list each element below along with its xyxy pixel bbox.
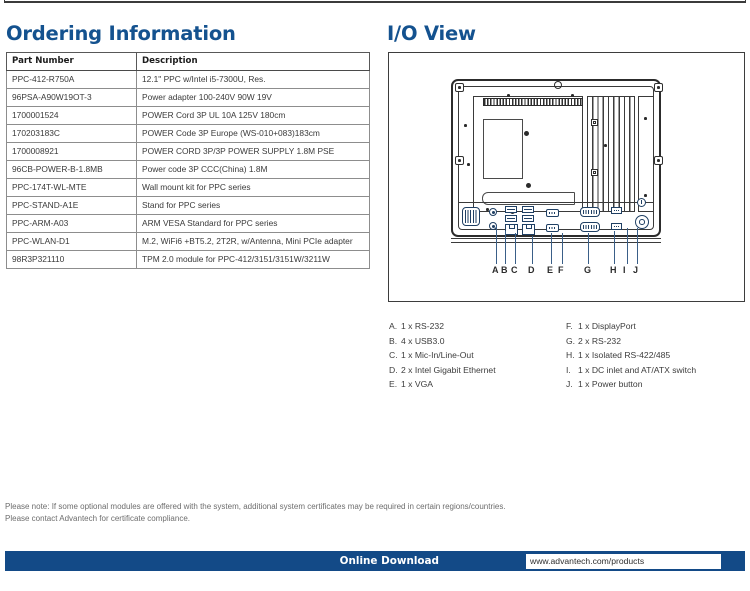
cell-description: TPM 2.0 module for PPC-412/3151/3151W/32… (137, 251, 370, 269)
io-legend-key: F. (566, 319, 578, 334)
power-button-connector (637, 198, 646, 207)
vesa-mount-boss-top-left (455, 83, 464, 92)
io-legend-text: 1 x Mic-In/Line-Out (401, 350, 474, 360)
io-legend-item: E.1 x VGA (389, 377, 496, 392)
callout-letter-e: E (547, 265, 553, 275)
leader-line-a (496, 226, 497, 264)
io-legend-key: G. (566, 334, 578, 349)
leader-line-b (505, 231, 506, 264)
cell-description: Power code 3P CCC(China) 1.8M (137, 161, 370, 179)
io-bracket-rail (451, 238, 661, 243)
cell-part-number: 96PSA-A90W19OT-3 (7, 89, 137, 107)
leader-line-h (614, 231, 615, 264)
usb3-port-1 (505, 206, 517, 213)
table-row: PPC-412-R750A12.1" PPC w/Intel i5-7300U,… (7, 71, 370, 89)
io-legend-key: H. (566, 348, 578, 363)
vesa-mount-boss-bottom-left (455, 156, 464, 165)
io-legend-key: E. (389, 377, 401, 392)
rs232-port-g2-connector (580, 222, 600, 232)
cell-part-number: PPC-ARM-A03 (7, 215, 137, 233)
cell-description: ARM VESA Standard for PPC series (137, 215, 370, 233)
side-panel-screw-top (644, 117, 647, 120)
heatsink-fins (587, 96, 635, 212)
callout-letter-g: G (584, 265, 591, 275)
ethernet-port-2 (522, 224, 535, 235)
io-legend-text: 2 x Intel Gigabit Ethernet (401, 365, 496, 375)
table-row: 1700001524POWER Cord 3P UL 10A 125V 180c… (7, 107, 370, 125)
screw-hole-c (464, 124, 467, 127)
online-download-footer-bar: Online Download (5, 551, 745, 571)
cell-part-number: 1700008921 (7, 143, 137, 161)
cell-description: POWER CORD 3P/3P POWER SUPPLY 1.8M PSE (137, 143, 370, 161)
table-row: PPC-WLAN-D1M.2, WiFi6 +BT5.2, 2T2R, w/An… (7, 233, 370, 251)
ventilation-grille (483, 98, 583, 106)
cell-part-number: 96CB-POWER-B-1.8MB (7, 161, 137, 179)
screw-hole-d (467, 163, 470, 166)
io-legend-item: C.1 x Mic-In/Line-Out (389, 348, 496, 363)
io-legend-item: I.1 x DC inlet and AT/ATX switch (566, 363, 696, 378)
cover-access-window (483, 119, 523, 179)
online-download-url-field[interactable] (526, 554, 721, 569)
heatsink-clip-bottom (591, 169, 598, 176)
cell-part-number: PPC-STAND-A1E (7, 197, 137, 215)
leader-line-f (562, 233, 563, 264)
table-row: 96CB-POWER-B-1.8MBPower code 3P CCC(Chin… (7, 161, 370, 179)
io-legend-right-column: F.1 x DisplayPortG.2 x RS-232H.1 x Isola… (566, 319, 696, 392)
cell-description: POWER Code 3P Europe (WS-010+083)183cm (137, 125, 370, 143)
io-legend-key: D. (389, 363, 401, 378)
heatsink-screw (604, 144, 607, 147)
table-row: 170203183CPOWER Code 3P Europe (WS-010+0… (7, 125, 370, 143)
table-header-row: Part Number Description (7, 53, 370, 71)
cell-part-number: 1700001524 (7, 107, 137, 125)
io-legend-item: A.1 x RS-232 (389, 319, 496, 334)
io-legend-key: A. (389, 319, 401, 334)
leader-line-g (588, 233, 589, 264)
io-legend-key: C. (389, 348, 401, 363)
displayport-connector (546, 224, 559, 232)
heatsink-clip-top (591, 119, 598, 126)
table-row: 96PSA-A90W19OT-3Power adapter 100-240V 9… (7, 89, 370, 107)
column-header-part-number: Part Number (7, 53, 137, 71)
cell-description: 12.1" PPC w/Intel i5-7300U, Res. (137, 71, 370, 89)
cell-description: M.2, WiFi6 +BT5.2, 2T2R, w/Antenna, Mini… (137, 233, 370, 251)
io-legend-text: 2 x RS-232 (578, 336, 621, 346)
io-legend-text: 1 x RS-232 (401, 321, 444, 331)
table-row: PPC-STAND-A1EStand for PPC series (7, 197, 370, 215)
io-legend-item: J.1 x Power button (566, 377, 696, 392)
callout-letter-c: C (511, 265, 518, 275)
vesa-mount-boss-top-right (654, 83, 663, 92)
io-legend-key: I. (566, 363, 578, 378)
column-header-description: Description (137, 53, 370, 71)
callout-letter-d: D (528, 265, 535, 275)
usb3-port-3 (505, 215, 517, 222)
cell-description: POWER Cord 3P UL 10A 125V 180cm (137, 107, 370, 125)
ordering-information-table: Part Number Description PPC-412-R750A12.… (6, 52, 370, 269)
cell-part-number: PPC-174T-WL-MTE (7, 179, 137, 197)
io-legend-left-column: A.1 x RS-232B.4 x USB3.0C.1 x Mic-In/Lin… (389, 319, 496, 392)
page-top-rule (4, 0, 746, 3)
cell-description: Wall mount kit for PPC series (137, 179, 370, 197)
isolated-rs422-485-port (611, 207, 622, 214)
rs232-port-a-connector (462, 207, 480, 226)
leader-line-c (515, 233, 516, 264)
callout-letter-a: A (492, 265, 499, 275)
dc-inlet-connector (635, 215, 649, 229)
leader-line-e (551, 233, 552, 264)
callout-letter-f: F (558, 265, 564, 275)
table-row: PPC-174T-WL-MTEWall mount kit for PPC se… (7, 179, 370, 197)
io-legend-key: B. (389, 334, 401, 349)
callout-letter-i: I (623, 265, 626, 275)
usb3-port-2 (522, 206, 534, 213)
io-legend-item: G.2 x RS-232 (566, 334, 696, 349)
rs232-port-g1-connector (580, 207, 600, 217)
cell-part-number: 98R3P321110 (7, 251, 137, 269)
io-legend-text: 1 x DisplayPort (578, 321, 636, 331)
vesa-mount-boss-bottom-right (654, 156, 663, 165)
cell-description: Power adapter 100-240V 90W 19V (137, 89, 370, 107)
at-atx-switch (611, 223, 622, 230)
io-legend-item: D.2 x Intel Gigabit Ethernet (389, 363, 496, 378)
table-row: PPC-ARM-A03ARM VESA Standard for PPC ser… (7, 215, 370, 233)
table-row: 1700008921POWER CORD 3P/3P POWER SUPPLY … (7, 143, 370, 161)
vesa-mount-boss-top-center (554, 81, 562, 89)
leader-line-j (637, 228, 638, 264)
table-row: 98R3P321110TPM 2.0 module for PPC-412/31… (7, 251, 370, 269)
online-download-label: Online Download (340, 555, 439, 567)
io-legend-text: 1 x Isolated RS-422/485 (578, 350, 670, 360)
cell-part-number: 170203183C (7, 125, 137, 143)
io-legend-text: 1 x VGA (401, 379, 433, 389)
page-title-io-view: I/O View (387, 22, 476, 45)
certificate-note-line-2: Please contact Advantech for certificate… (5, 513, 506, 525)
io-legend-text: 1 x Power button (578, 379, 643, 389)
usb3-port-4 (522, 215, 534, 222)
leader-line-d (532, 236, 533, 264)
page-title-ordering-information: Ordering Information (6, 22, 236, 45)
io-legend-item: F.1 x DisplayPort (566, 319, 696, 334)
leader-line-i (627, 228, 628, 264)
io-legend-key: J. (566, 377, 578, 392)
io-legend-item: H.1 x Isolated RS-422/485 (566, 348, 696, 363)
certificate-note: Please note: If some optional modules ar… (5, 501, 506, 526)
callout-letter-h: H (610, 265, 617, 275)
io-legend-text: 1 x DC inlet and AT/ATX switch (578, 365, 696, 375)
callout-letter-b: B (501, 265, 508, 275)
io-view-device-illustration: A B C D E F G H I J (388, 52, 745, 302)
vga-port-connector (546, 209, 559, 217)
screw-hole-a (507, 94, 510, 97)
io-legend-text: 4 x USB3.0 (401, 336, 444, 346)
certificate-note-line-1: Please note: If some optional modules ar… (5, 501, 506, 513)
side-panel-screw-bottom (644, 194, 647, 197)
cell-description: Stand for PPC series (137, 197, 370, 215)
audio-jack-line-out (489, 208, 497, 216)
cell-part-number: PPC-412-R750A (7, 71, 137, 89)
screw-hole-b (571, 94, 574, 97)
io-legend-item: B.4 x USB3.0 (389, 334, 496, 349)
cell-part-number: PPC-WLAN-D1 (7, 233, 137, 251)
callout-letter-j: J (633, 265, 638, 275)
